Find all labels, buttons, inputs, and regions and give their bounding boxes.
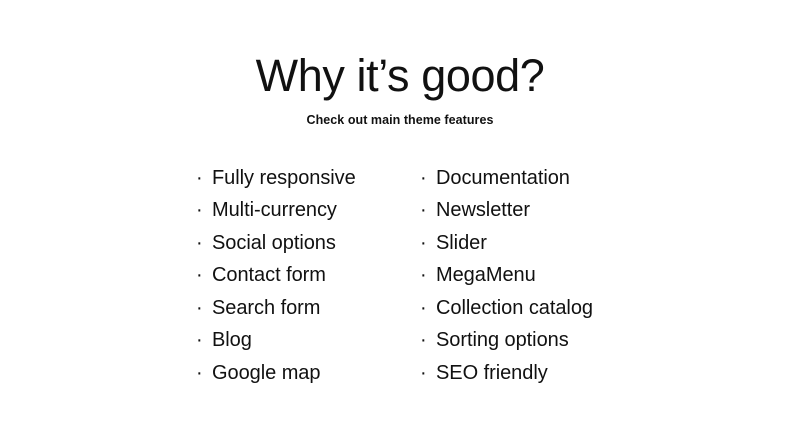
list-item: · Contact form	[196, 259, 420, 292]
list-item: · Newsletter	[420, 194, 593, 227]
bullet-icon: ·	[420, 324, 436, 357]
feature-column-right: · Documentation · Newsletter · Slider · …	[420, 162, 593, 390]
list-item-label: Search form	[212, 292, 320, 325]
features-list: · Fully responsive · Multi-currency · So…	[0, 127, 800, 390]
list-item-label: Documentation	[436, 162, 570, 195]
list-item-label: Newsletter	[436, 194, 530, 227]
list-item-label: Contact form	[212, 259, 326, 292]
page-title: Why it’s good?	[0, 52, 800, 100]
bullet-icon: ·	[196, 292, 212, 325]
list-item: · MegaMenu	[420, 259, 593, 292]
list-item-label: Multi-currency	[212, 194, 337, 227]
bullet-icon: ·	[420, 292, 436, 325]
list-item: · Documentation	[420, 162, 593, 195]
list-item-label: Slider	[436, 227, 487, 260]
list-item-label: Fully responsive	[212, 162, 356, 195]
list-item-label: MegaMenu	[436, 259, 536, 292]
list-item-label: Social options	[212, 227, 336, 260]
list-item: · Social options	[196, 227, 420, 260]
bullet-icon: ·	[420, 227, 436, 260]
list-item-label: SEO friendly	[436, 357, 548, 390]
list-item: · Sorting options	[420, 324, 593, 357]
list-item: · Collection catalog	[420, 292, 593, 325]
bullet-icon: ·	[196, 162, 212, 195]
bullet-icon: ·	[196, 259, 212, 292]
list-item-label: Blog	[212, 324, 252, 357]
header: Why it’s good? Check out main theme feat…	[0, 0, 800, 127]
bullet-icon: ·	[196, 227, 212, 260]
feature-column-left: · Fully responsive · Multi-currency · So…	[196, 162, 420, 390]
list-item-label: Sorting options	[436, 324, 569, 357]
list-item: · Google map	[196, 357, 420, 390]
bullet-icon: ·	[420, 162, 436, 195]
bullet-icon: ·	[196, 357, 212, 390]
list-item: · SEO friendly	[420, 357, 593, 390]
bullet-icon: ·	[420, 259, 436, 292]
list-item: · Slider	[420, 227, 593, 260]
bullet-icon: ·	[420, 194, 436, 227]
list-item: · Multi-currency	[196, 194, 420, 227]
list-item: · Blog	[196, 324, 420, 357]
list-item-label: Google map	[212, 357, 320, 390]
list-item: · Fully responsive	[196, 162, 420, 195]
list-item-label: Collection catalog	[436, 292, 593, 325]
bullet-icon: ·	[420, 357, 436, 390]
bullet-icon: ·	[196, 194, 212, 227]
page-subtitle: Check out main theme features	[0, 100, 800, 127]
bullet-icon: ·	[196, 324, 212, 357]
slide-container: Why it’s good? Check out main theme feat…	[0, 0, 800, 446]
list-item: · Search form	[196, 292, 420, 325]
